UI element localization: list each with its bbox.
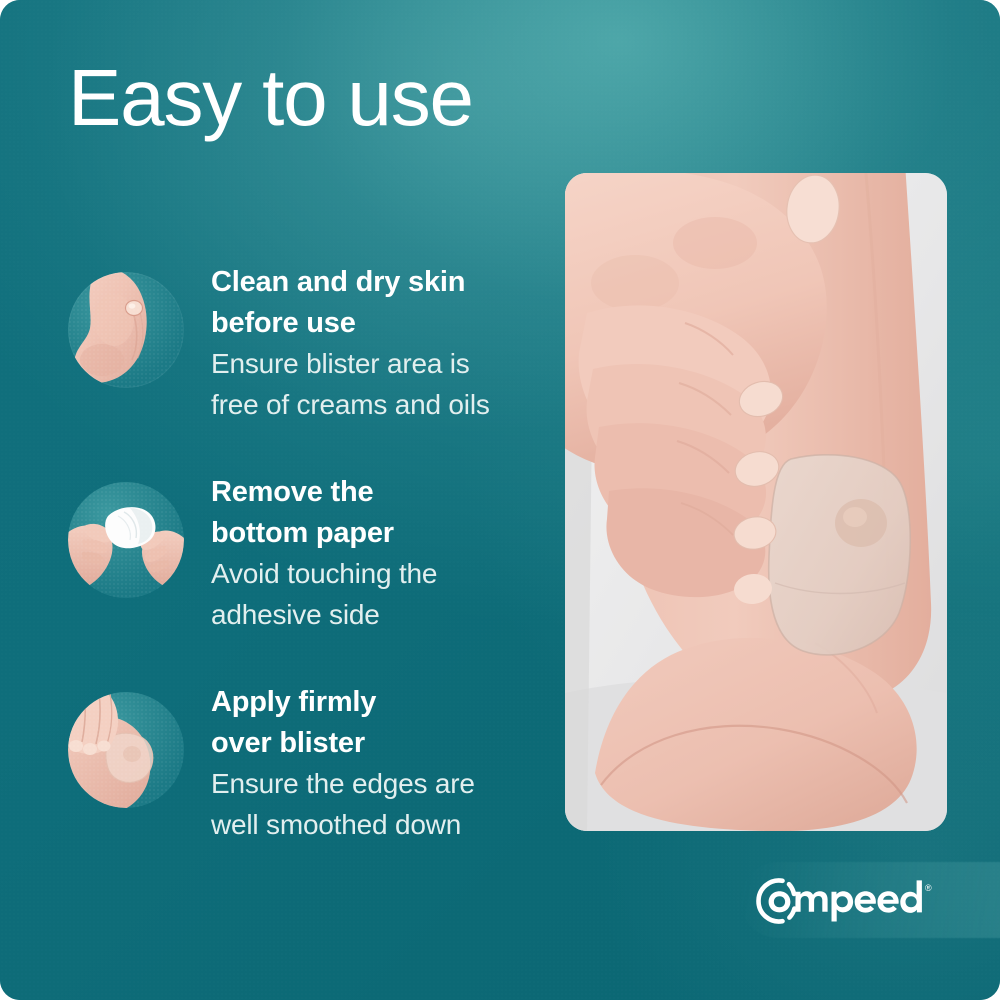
step-description: Avoid touching the adhesive side bbox=[211, 554, 566, 636]
heel-with-blister-thumbnail bbox=[68, 272, 184, 388]
step-text-block: Apply firmly over blister Ensure the edg… bbox=[211, 682, 566, 846]
page-title: Easy to use bbox=[68, 58, 588, 138]
registered-trademark-symbol: ® bbox=[925, 883, 932, 893]
step-heading: Remove the bottom paper bbox=[211, 472, 566, 554]
step-description: Ensure the edges are well smoothed down bbox=[211, 764, 566, 846]
steps-list: Clean and dry skin before use Ensure bli… bbox=[68, 262, 568, 892]
step-heading: Clean and dry skin before use bbox=[211, 262, 566, 344]
step-description: Ensure blister area is free of creams an… bbox=[211, 344, 566, 426]
list-item: Remove the bottom paper Avoid touching t… bbox=[68, 472, 568, 682]
list-item: Apply firmly over blister Ensure the edg… bbox=[68, 682, 568, 892]
step-text-block: Clean and dry skin before use Ensure bli… bbox=[211, 262, 566, 426]
step-heading: Apply firmly over blister bbox=[211, 682, 566, 764]
list-item: Clean and dry skin before use Ensure bli… bbox=[68, 262, 568, 472]
fingers-pressing-plaster-thumbnail bbox=[68, 692, 184, 808]
step-text-block: Remove the bottom paper Avoid touching t… bbox=[211, 472, 566, 636]
hero-product-application-photo bbox=[565, 173, 947, 831]
compeed-logo: ® bbox=[742, 870, 942, 932]
hands-peeling-backing-paper-thumbnail bbox=[68, 482, 184, 598]
poster-canvas: Easy to use bbox=[0, 0, 1000, 1000]
